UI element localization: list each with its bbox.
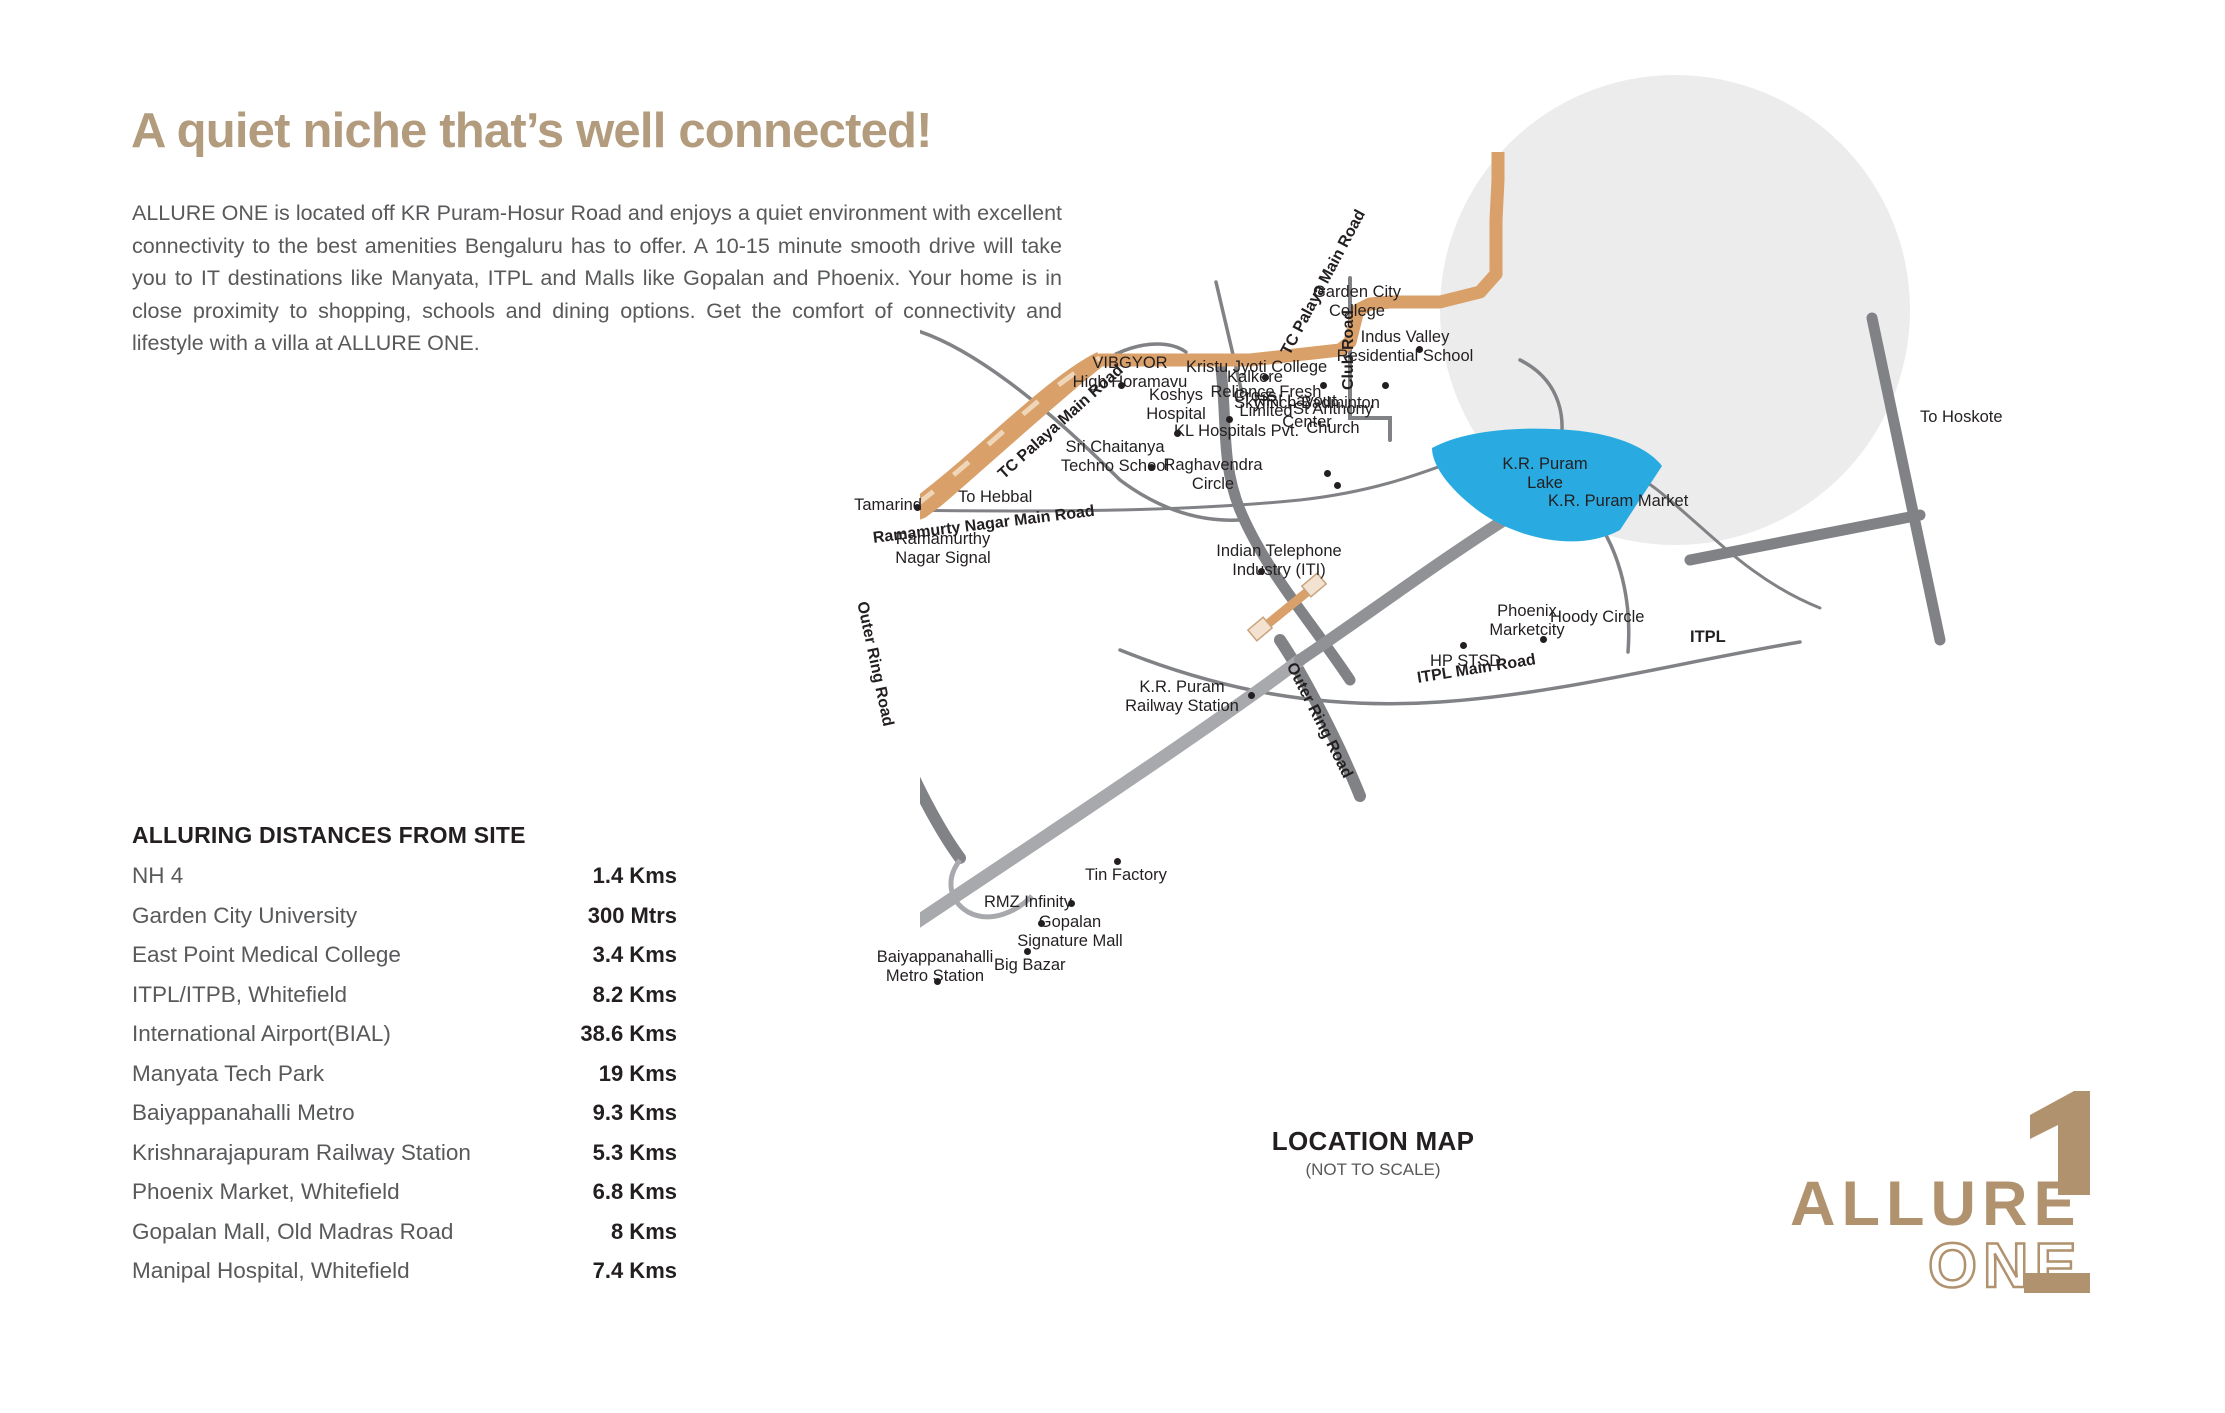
poi-dot-hp-stsd — [1460, 642, 1467, 649]
distances-section: ALLURING DISTANCES FROM SITE NH 4 1.4 Km… — [132, 822, 677, 1298]
logo-wordmark-one: ONE — [1928, 1235, 2083, 1298]
label-kr-puram-railway-station: K.R. Puram Railway Station — [1102, 678, 1262, 716]
distance-value: 38.6 Kms — [557, 1021, 677, 1047]
distance-label: Manyata Tech Park — [132, 1061, 324, 1087]
poi-dot-indus-valley — [1382, 382, 1389, 389]
distances-title: ALLURING DISTANCES FROM SITE — [132, 822, 677, 849]
label-hoody-circle: Hoody Circle — [1550, 608, 1644, 627]
distance-row: International Airport(BIAL) 38.6 Kms — [132, 1021, 677, 1061]
distance-value: 8 Kms — [557, 1219, 677, 1245]
allure-one-logo: ALLURE ONE — [1790, 1095, 2130, 1315]
label-tamarind: Tamarind — [830, 496, 922, 515]
distance-row: Manyata Tech Park 19 Kms — [132, 1061, 677, 1101]
distance-row: Baiyappanahalli Metro 9.3 Kms — [132, 1100, 677, 1140]
location-map-subtitle: (NOT TO SCALE) — [1263, 1160, 1483, 1180]
logo-wordmark-allure: ALLURE — [1790, 1173, 2081, 1236]
distance-value: 6.8 Kms — [557, 1179, 677, 1205]
distance-value: 1.4 Kms — [557, 863, 677, 889]
distance-value: 9.3 Kms — [557, 1100, 677, 1126]
distance-label: Phoenix Market, Whitefield — [132, 1179, 400, 1205]
location-map-title: LOCATION MAP — [1263, 1126, 1483, 1157]
poi-dot-tin-factory — [1114, 858, 1121, 865]
label-kr-puram-lake: K.R. Puram Lake — [1460, 455, 1630, 493]
label-rmz-infinity: RMZ Infinity — [932, 893, 1072, 912]
road-label-club-road: Club Road — [1340, 310, 1358, 390]
distance-row: East Point Medical College 3.4 Kms — [132, 942, 677, 982]
distance-label: Manipal Hospital, Whitefield — [132, 1258, 410, 1284]
distance-row: Garden City University 300 Mtrs — [132, 903, 677, 943]
distance-value: 300 Mtrs — [557, 903, 677, 929]
distance-value: 19 Kms — [557, 1061, 677, 1087]
label-baiyappanahalli-metro-station: Baiyappanahalli Metro Station — [860, 948, 1010, 986]
label-itpl: ITPL — [1690, 628, 1726, 647]
distance-value: 3.4 Kms — [557, 942, 677, 968]
distance-row: ITPL/ITPB, Whitefield 8.2 Kms — [132, 982, 677, 1022]
label-gopalan-signature-mall: Gopalan Signature Mall — [990, 913, 1150, 951]
distance-value: 8.2 Kms — [557, 982, 677, 1008]
poi-dot-skyfinch — [1334, 482, 1341, 489]
distance-label: Garden City University — [132, 903, 357, 929]
distance-row: Manipal Hospital, Whitefield 7.4 Kms — [132, 1258, 677, 1298]
distance-label: NH 4 — [132, 863, 183, 889]
label-kr-puram-market: K.R. Puram Market — [1548, 492, 1688, 511]
distance-label: Gopalan Mall, Old Madras Road — [132, 1219, 453, 1245]
distance-row: Phoenix Market, Whitefield 6.8 Kms — [132, 1179, 677, 1219]
distance-label: Krishnarajapuram Railway Station — [132, 1140, 471, 1166]
distance-row: Krishnarajapuram Railway Station 5.3 Kms — [132, 1140, 677, 1180]
distance-row: Gopalan Mall, Old Madras Road 8 Kms — [132, 1219, 677, 1259]
label-koshys-hospital: Koshys Hospital — [1128, 386, 1224, 424]
distance-label: ITPL/ITPB, Whitefield — [132, 982, 347, 1008]
road-to-hoskote — [1872, 318, 1940, 640]
label-indian-telephone-industry: Indian Telephone Industry (ITI) — [1194, 542, 1364, 580]
label-indus-valley-residential-school: Indus Valley Residential School — [1310, 328, 1500, 366]
label-to-hoskote: To Hoskote — [1920, 408, 2003, 427]
distance-label: East Point Medical College — [132, 942, 401, 968]
distance-value: 5.3 Kms — [557, 1140, 677, 1166]
label-tin-factory: Tin Factory — [1085, 866, 1167, 885]
label-to-hebbal: To Hebbal — [958, 488, 1032, 507]
label-raghavendra-circle: Raghavendra Circle — [1138, 456, 1288, 494]
road-label-outer-ring-road-left: Outer Ring Road — [852, 600, 896, 728]
distance-label: Baiyappanahalli Metro — [132, 1100, 355, 1126]
poi-dot-st-anthony-church — [1324, 470, 1331, 477]
distance-value: 7.4 Kms — [557, 1258, 677, 1284]
distance-row: NH 4 1.4 Kms — [132, 863, 677, 903]
distance-label: International Airport(BIAL) — [132, 1021, 391, 1047]
road-nri-curve — [1116, 344, 1186, 354]
